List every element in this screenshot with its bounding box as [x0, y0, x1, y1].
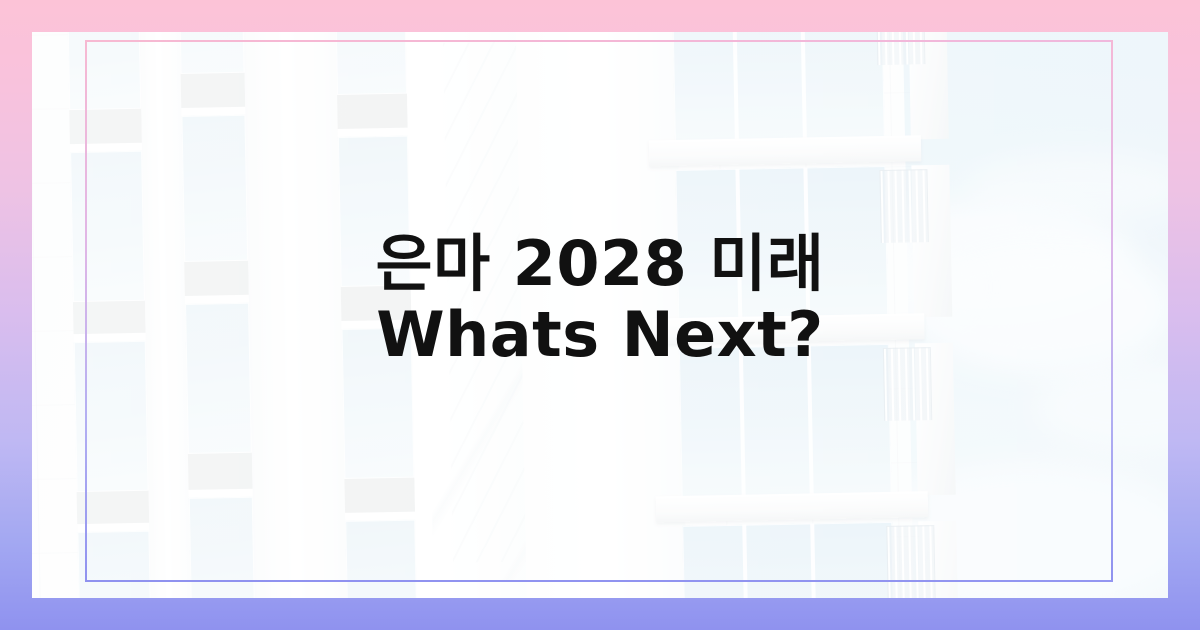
window-band: [67, 32, 153, 598]
balcony-floor: [682, 521, 945, 598]
balcony-wing: [672, 32, 945, 598]
balcony-floor: [679, 343, 942, 500]
background-photo: [32, 32, 1168, 598]
wall-pilaster: [243, 32, 349, 598]
thumbnail-card: 은마 2028 미래 Whats Next?: [0, 0, 1200, 630]
balcony-floor: [672, 32, 935, 144]
window-band: [335, 32, 419, 598]
balcony-floor: [675, 165, 938, 322]
